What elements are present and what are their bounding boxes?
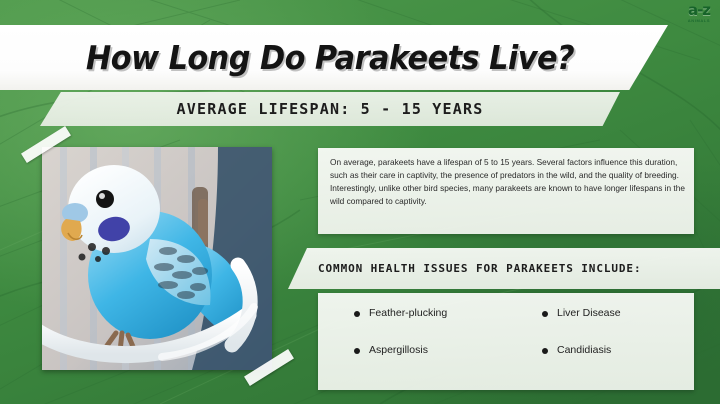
parakeet-photo [42,147,272,370]
az-animals-logo[interactable]: a-z ANIMALS [684,3,714,27]
bullet-icon [542,348,548,354]
list-item-label: Aspergillosis [369,344,428,357]
list-item-label: Liver Disease [557,307,621,320]
list-item-label: Feather-plucking [369,307,447,320]
health-list: Feather-plucking Liver Disease Aspergill… [318,293,694,390]
bullet-icon [542,311,548,317]
subtitle-text: AVERAGE LIFESPAN: 5 - 15 YEARS [40,92,620,126]
list-item: Candidiasis [506,344,694,381]
list-item: Liver Disease [506,307,694,344]
list-item: Aspergillosis [318,344,506,381]
logo-mark: a-z [684,3,714,18]
health-heading-text: COMMON HEALTH ISSUES FOR PARAKEETS INCLU… [318,248,641,289]
list-item: Feather-plucking [318,307,506,344]
bullet-icon [354,348,360,354]
infographic-canvas: a-z ANIMALS How Long Do Parakeets Live? … [0,0,720,404]
list-item-label: Candidiasis [557,344,611,357]
description-text: On average, parakeets have a lifespan of… [330,156,686,207]
logo-subtext: ANIMALS [684,19,714,23]
bullet-icon [354,311,360,317]
page-title: How Long Do Parakeets Live? [26,25,633,90]
